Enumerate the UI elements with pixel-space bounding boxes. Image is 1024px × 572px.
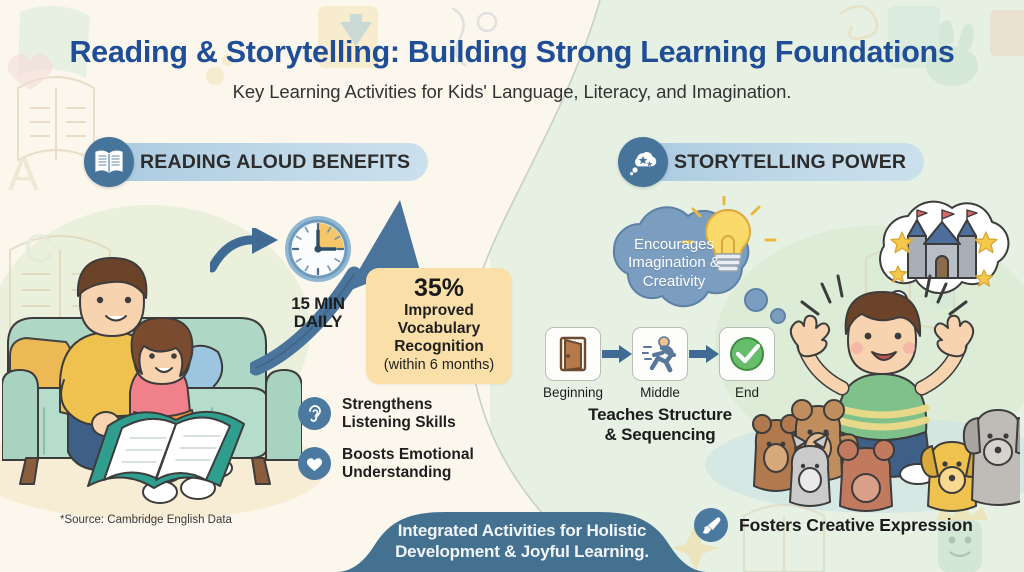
story-sequence-labels: Beginning Middle End [545,385,775,400]
clock-icon [281,212,355,286]
running-person-icon [642,335,678,373]
thought-cloud-icon [618,137,668,187]
reading-benefit-list: Strengthens Listening Skills Boosts Emot… [298,396,474,496]
sequence-step-end[interactable] [719,327,775,381]
fosters-creative-expression-label: Fosters Creative Expression [739,515,973,536]
page-subtitle: Key Learning Activities for Kids' Langua… [0,81,1024,103]
list-item-label: Strengthens Listening Skills [342,396,456,432]
infographic-canvas: A C A A [0,0,1024,572]
page-title: Reading & Storytelling: Building Strong … [0,36,1024,70]
sequence-arrow-1-icon [602,345,632,363]
fosters-creative-expression: Fosters Creative Expression [694,508,973,542]
vocabulary-stat-callout: 35% Improved Vocabulary Recognition (wit… [366,268,512,384]
open-door-icon [556,335,590,373]
header: Reading & Storytelling: Building Strong … [0,36,1024,103]
bottom-banner: Integrated Activities for Holistic Devel… [336,506,708,572]
sequence-step-middle[interactable] [632,327,688,381]
story-sequence: Beginning Middle End Teaches Structure &… [545,327,775,444]
story-sequence-caption: Teaches Structure & Sequencing [545,405,775,444]
open-book-icon [84,137,134,187]
svg-text:A: A [8,148,39,200]
imagination-cloud-label: Encourages Imagination & Creativity [604,236,744,291]
section-header-reading-label: READING ALOUD BENEFITS [140,151,410,174]
list-item-label: Boosts Emotional Understanding [342,446,474,482]
list-item: Strengthens Listening Skills [298,396,474,432]
heart-icon [298,447,331,480]
clock-label: 15 MIN DAILY [272,295,364,332]
sequence-arrow-2-icon [689,345,719,363]
reading-time-stat: 15 MIN DAILY [272,212,364,332]
section-header-storytelling-label: STORYTELLING POWER [674,151,906,174]
sequence-label-beginning: Beginning [538,385,608,400]
sequence-label-middle: Middle [625,385,695,400]
source-note: *Source: Cambridge English Data [60,514,232,526]
sequence-step-beginning[interactable] [545,327,601,381]
paintbrush-icon [694,508,728,542]
sequence-label-end: End [712,385,782,400]
list-item: Boosts Emotional Understanding [298,446,474,482]
stat-timeframe: (within 6 months) [372,357,506,374]
bottom-banner-text: Integrated Activities for Holistic Devel… [336,520,708,563]
imagination-cloud: Encourages Imagination & Creativity [576,196,806,336]
section-header-reading[interactable]: READING ALOUD BENEFITS [92,143,428,181]
ear-icon [298,397,331,430]
green-check-icon [728,335,766,373]
stat-percent: 35% [372,275,506,302]
story-sequence-row [545,327,775,381]
section-header-storytelling[interactable]: STORYTELLING POWER [626,143,924,181]
